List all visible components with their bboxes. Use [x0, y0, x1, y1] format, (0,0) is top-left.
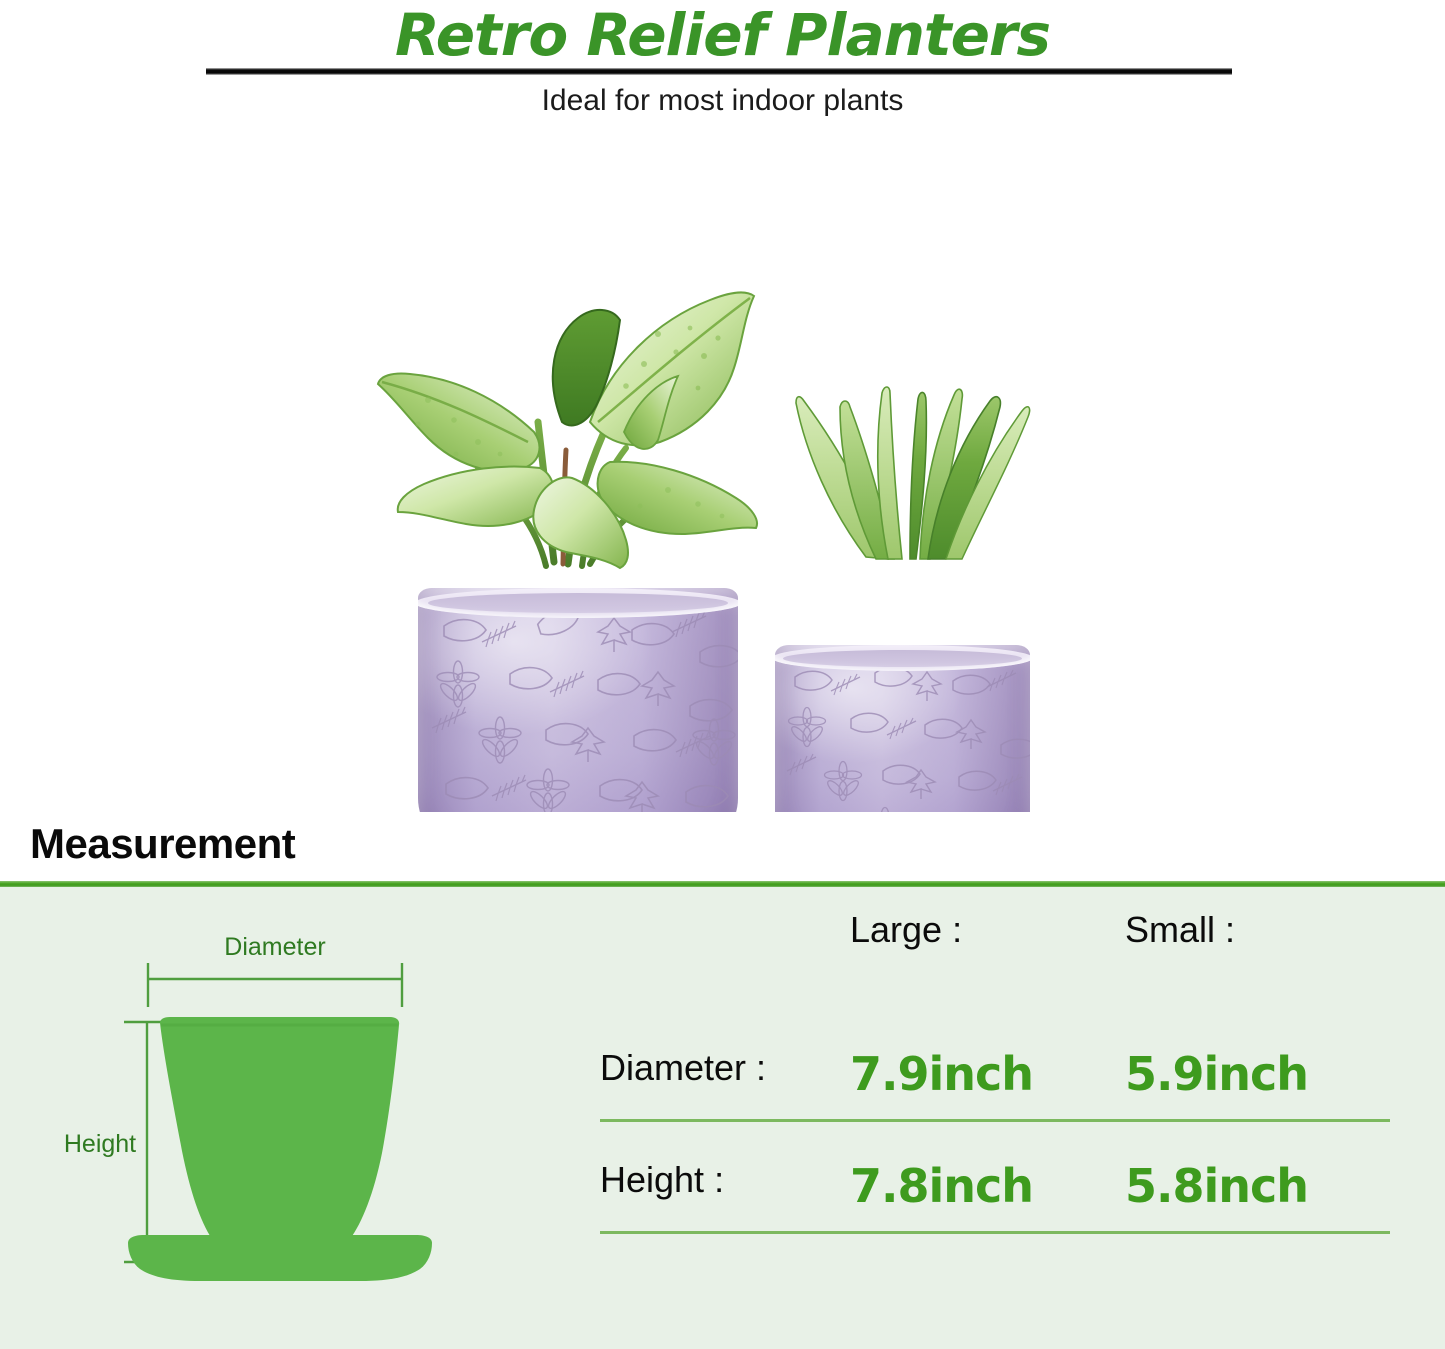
pot-silhouette	[128, 1017, 432, 1281]
diameter-label-text: Diameter	[224, 933, 325, 961]
dimension-diagram: Diameter Height	[60, 907, 520, 1327]
snake-plant-icon	[770, 345, 1050, 565]
table-row-divider	[600, 1119, 1390, 1122]
row-label-diameter: Diameter :	[600, 1047, 850, 1089]
small-pot-opening	[783, 650, 1022, 667]
table-row-divider	[600, 1231, 1390, 1234]
product-photo-area	[0, 140, 1445, 812]
page-title: Retro Relief Planters	[0, 2, 1445, 68]
table-header-row: Large : Small :	[600, 909, 1390, 979]
column-header-small: Small :	[1125, 909, 1365, 951]
table-row: Height : 7.8inch 5.8inch	[600, 1159, 1390, 1221]
measurement-panel: Diameter Height Large : Small :	[0, 887, 1445, 1349]
small-pot-rim	[775, 645, 1030, 671]
large-pot-opening	[428, 593, 728, 613]
table-row: Diameter : 7.9inch 5.9inch	[600, 1047, 1390, 1109]
diameter-dimension-line	[148, 963, 402, 1007]
measurement-section-title: Measurement	[30, 820, 295, 868]
row-label-height: Height :	[600, 1159, 850, 1201]
height-label-text: Height	[64, 1130, 136, 1158]
height-large-value: 7.8inch	[850, 1159, 1090, 1213]
diameter-small-value: 5.9inch	[1125, 1047, 1365, 1101]
title-divider	[206, 68, 1232, 75]
syngonium-plant-icon	[358, 272, 798, 572]
page-subtitle: Ideal for most indoor plants	[0, 84, 1445, 118]
header-banner: Retro Relief Planters Ideal for most ind…	[0, 0, 1445, 140]
measurement-table: Large : Small : Diameter : 7.9inch 5.9in…	[600, 897, 1400, 1317]
large-pot-rim	[418, 588, 738, 618]
height-small-value: 5.8inch	[1125, 1159, 1365, 1213]
diameter-large-value: 7.9inch	[850, 1047, 1090, 1101]
column-header-large: Large :	[850, 909, 1090, 951]
